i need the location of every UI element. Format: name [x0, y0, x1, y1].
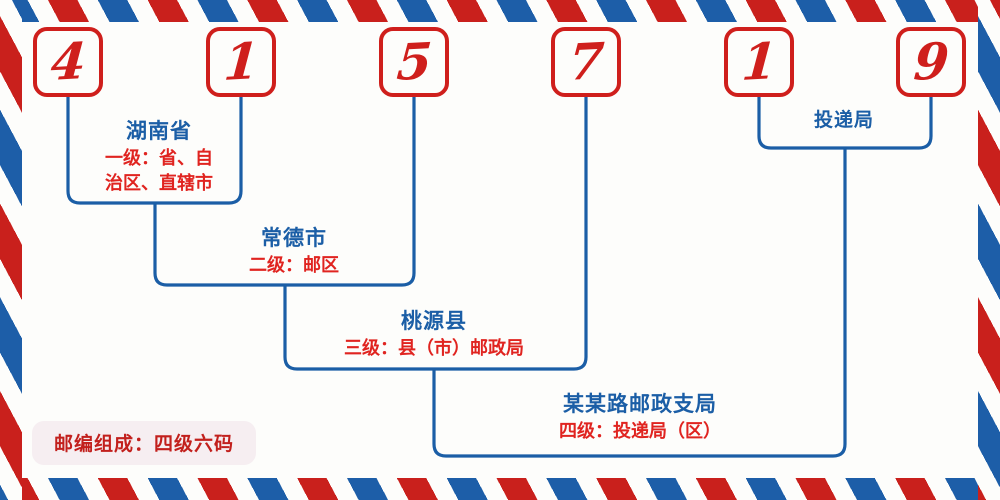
level-2-subtitle-line1: 二级：邮区	[185, 254, 403, 277]
level-3-subtitle-line1: 三级：县（市）邮政局	[300, 337, 568, 360]
digit-glyph-1: 4	[49, 36, 86, 88]
level-2-title: 常德市	[185, 222, 403, 252]
level-4-subtitle-line1: 四级：投递局（区）	[470, 420, 810, 443]
level-1-subtitle-line2: 治区、直辖市	[78, 172, 240, 195]
delivery-office-title: 投递局	[760, 105, 928, 132]
digit-box-3[interactable]: 5	[379, 27, 449, 97]
level-1-subtitle-line1: 一级：省、自	[78, 147, 240, 170]
digit-glyph-4: 7	[567, 36, 604, 88]
digit-glyph-2: 1	[222, 36, 259, 88]
level-1-title: 湖南省	[78, 115, 240, 145]
digit-box-1[interactable]: 4	[33, 27, 103, 97]
level-2-label-group: 常德市 二级：邮区	[185, 222, 403, 277]
digit-glyph-6: 9	[912, 36, 949, 88]
digit-glyph-3: 5	[395, 36, 432, 88]
level-3-title: 桃源县	[300, 305, 568, 335]
digit-box-2[interactable]: 1	[206, 27, 276, 97]
level-4-label-group: 某某路邮政支局 四级：投递局（区）	[470, 388, 810, 443]
digit-box-6[interactable]: 9	[896, 27, 966, 97]
footer-badge: 邮编组成：四级六码	[32, 421, 256, 465]
level-4-title: 某某路邮政支局	[470, 388, 810, 418]
level-3-label-group: 桃源县 三级：县（市）邮政局	[300, 305, 568, 360]
digit-box-5[interactable]: 1	[724, 27, 794, 97]
postcode-infographic: 4 1 5 7 1 9 湖南省 一级：省、自 治区、直辖市 常德市 二级：邮区 …	[0, 0, 1000, 500]
footer-badge-text: 邮编组成：四级六码	[54, 433, 234, 455]
delivery-office-label-group: 投递局	[760, 105, 928, 132]
digit-box-4[interactable]: 7	[551, 27, 621, 97]
level-1-label-group: 湖南省 一级：省、自 治区、直辖市	[78, 115, 240, 195]
digit-glyph-5: 1	[740, 36, 777, 88]
